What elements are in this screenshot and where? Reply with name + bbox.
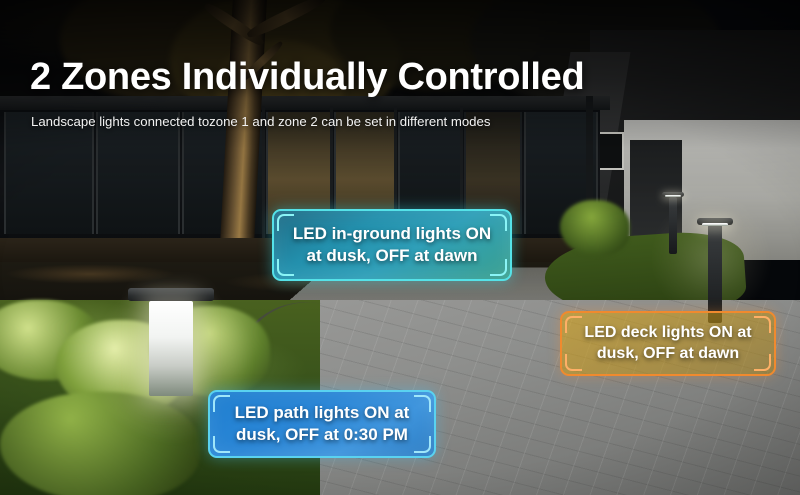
corner-bracket-icon: [414, 395, 431, 412]
callout-line-1: LED in-ground lights ON: [293, 223, 491, 245]
bollard-light-right-near: [697, 218, 733, 323]
callout-deck-lights[interactable]: LED deck lights ON at dusk, OFF at dawn: [560, 311, 776, 376]
callout-text: LED path lights ON at dusk, OFF at 0:30 …: [223, 402, 422, 446]
callout-line-1: LED path lights ON at: [235, 402, 410, 424]
callout-line-2: dusk, OFF at dawn: [584, 344, 751, 364]
corner-bracket-icon: [490, 214, 507, 231]
pavilion-glass-panel: [4, 112, 94, 234]
corner-bracket-icon: [565, 354, 582, 371]
bollard-lens: [149, 301, 193, 396]
callout-line-2: dusk, OFF at 0:30 PM: [235, 424, 410, 446]
shrub: [0, 392, 200, 495]
bollard-light-left: [128, 288, 214, 398]
page-title: 2 Zones Individually Controlled: [30, 58, 584, 98]
corner-bracket-icon: [565, 316, 582, 333]
bollard-light-right-far: [662, 192, 684, 254]
callout-line-2: at dusk, OFF at dawn: [293, 245, 491, 267]
corner-bracket-icon: [490, 259, 507, 276]
callout-inground-lights[interactable]: LED in-ground lights ON at dusk, OFF at …: [272, 209, 512, 281]
corner-bracket-icon: [277, 259, 294, 276]
promo-banner: 2 Zones Individually Controlled Landscap…: [0, 0, 800, 495]
shrub: [560, 200, 630, 256]
pavilion-glass-panel: [96, 112, 180, 234]
bollard-cap: [128, 288, 214, 301]
callout-text: LED in-ground lights ON at dusk, OFF at …: [281, 223, 503, 267]
corner-bracket-icon: [277, 214, 294, 231]
callout-text: LED deck lights ON at dusk, OFF at dawn: [572, 323, 763, 364]
callout-path-lights[interactable]: LED path lights ON at dusk, OFF at 0:30 …: [208, 390, 436, 458]
corner-bracket-icon: [414, 436, 431, 453]
pavilion-roof: [0, 96, 610, 110]
callout-line-1: LED deck lights ON at: [584, 323, 751, 343]
page-subtitle: Landscape lights connected tozone 1 and …: [31, 114, 490, 129]
bollard-lens: [702, 223, 728, 226]
corner-bracket-icon: [754, 316, 771, 333]
corner-bracket-icon: [754, 354, 771, 371]
corner-bracket-icon: [213, 436, 230, 453]
bollard-post: [708, 225, 722, 323]
bollard-post: [669, 197, 677, 254]
corner-bracket-icon: [213, 395, 230, 412]
bollard-lens: [665, 195, 681, 197]
